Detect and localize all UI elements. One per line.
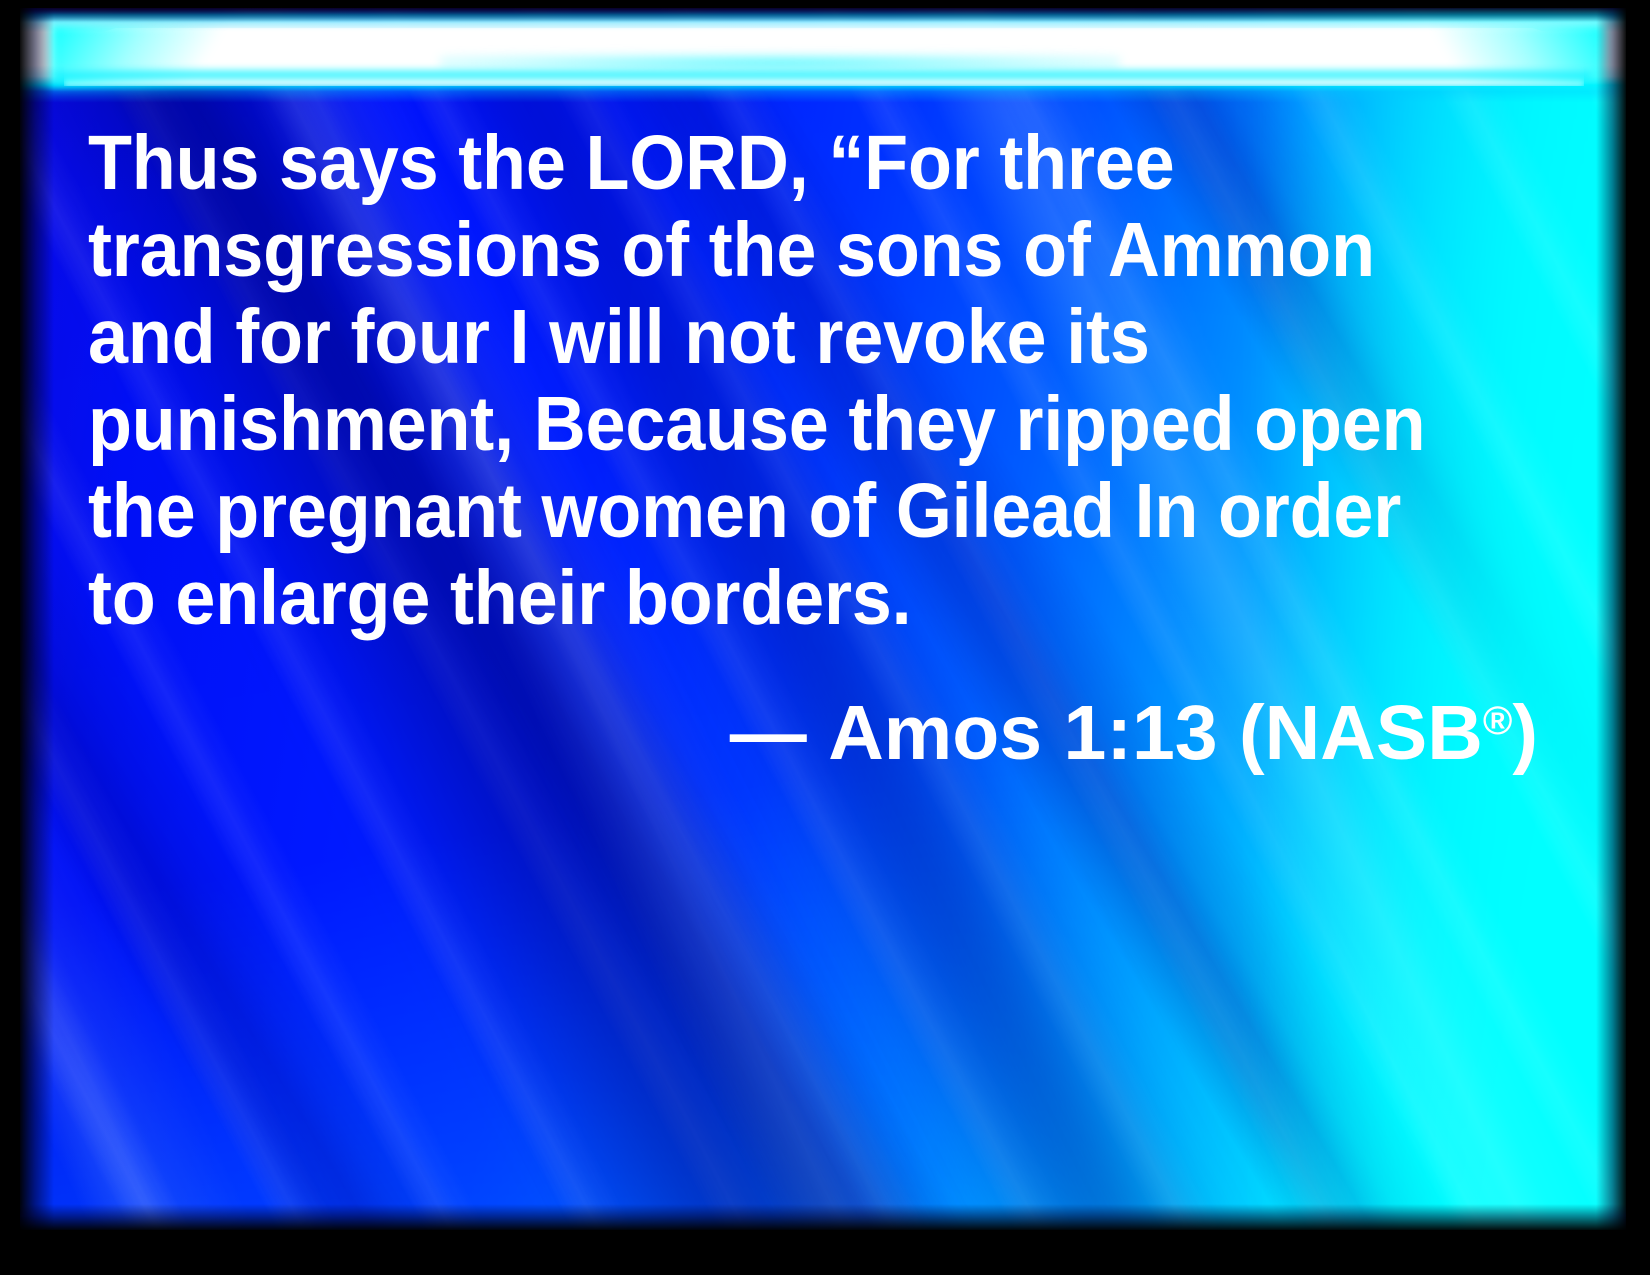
attribution-close-paren: ) — [1512, 690, 1538, 776]
registered-trademark-icon: ® — [1483, 699, 1513, 743]
verse-body-text: Thus says the LORD, “For three transgres… — [88, 120, 1444, 642]
attribution-reference-text: Amos 1:13 (NASB — [828, 690, 1483, 776]
slide-stage: Thus says the LORD, “For three transgres… — [20, 8, 1626, 1230]
verse-content-block: Thus says the LORD, “For three transgres… — [88, 120, 1538, 777]
verse-slide: Thus says the LORD, “For three transgres… — [0, 0, 1650, 1275]
verse-attribution: — Amos 1:13 (NASB®) — [88, 642, 1538, 777]
attribution-em-dash: — — [730, 690, 807, 776]
